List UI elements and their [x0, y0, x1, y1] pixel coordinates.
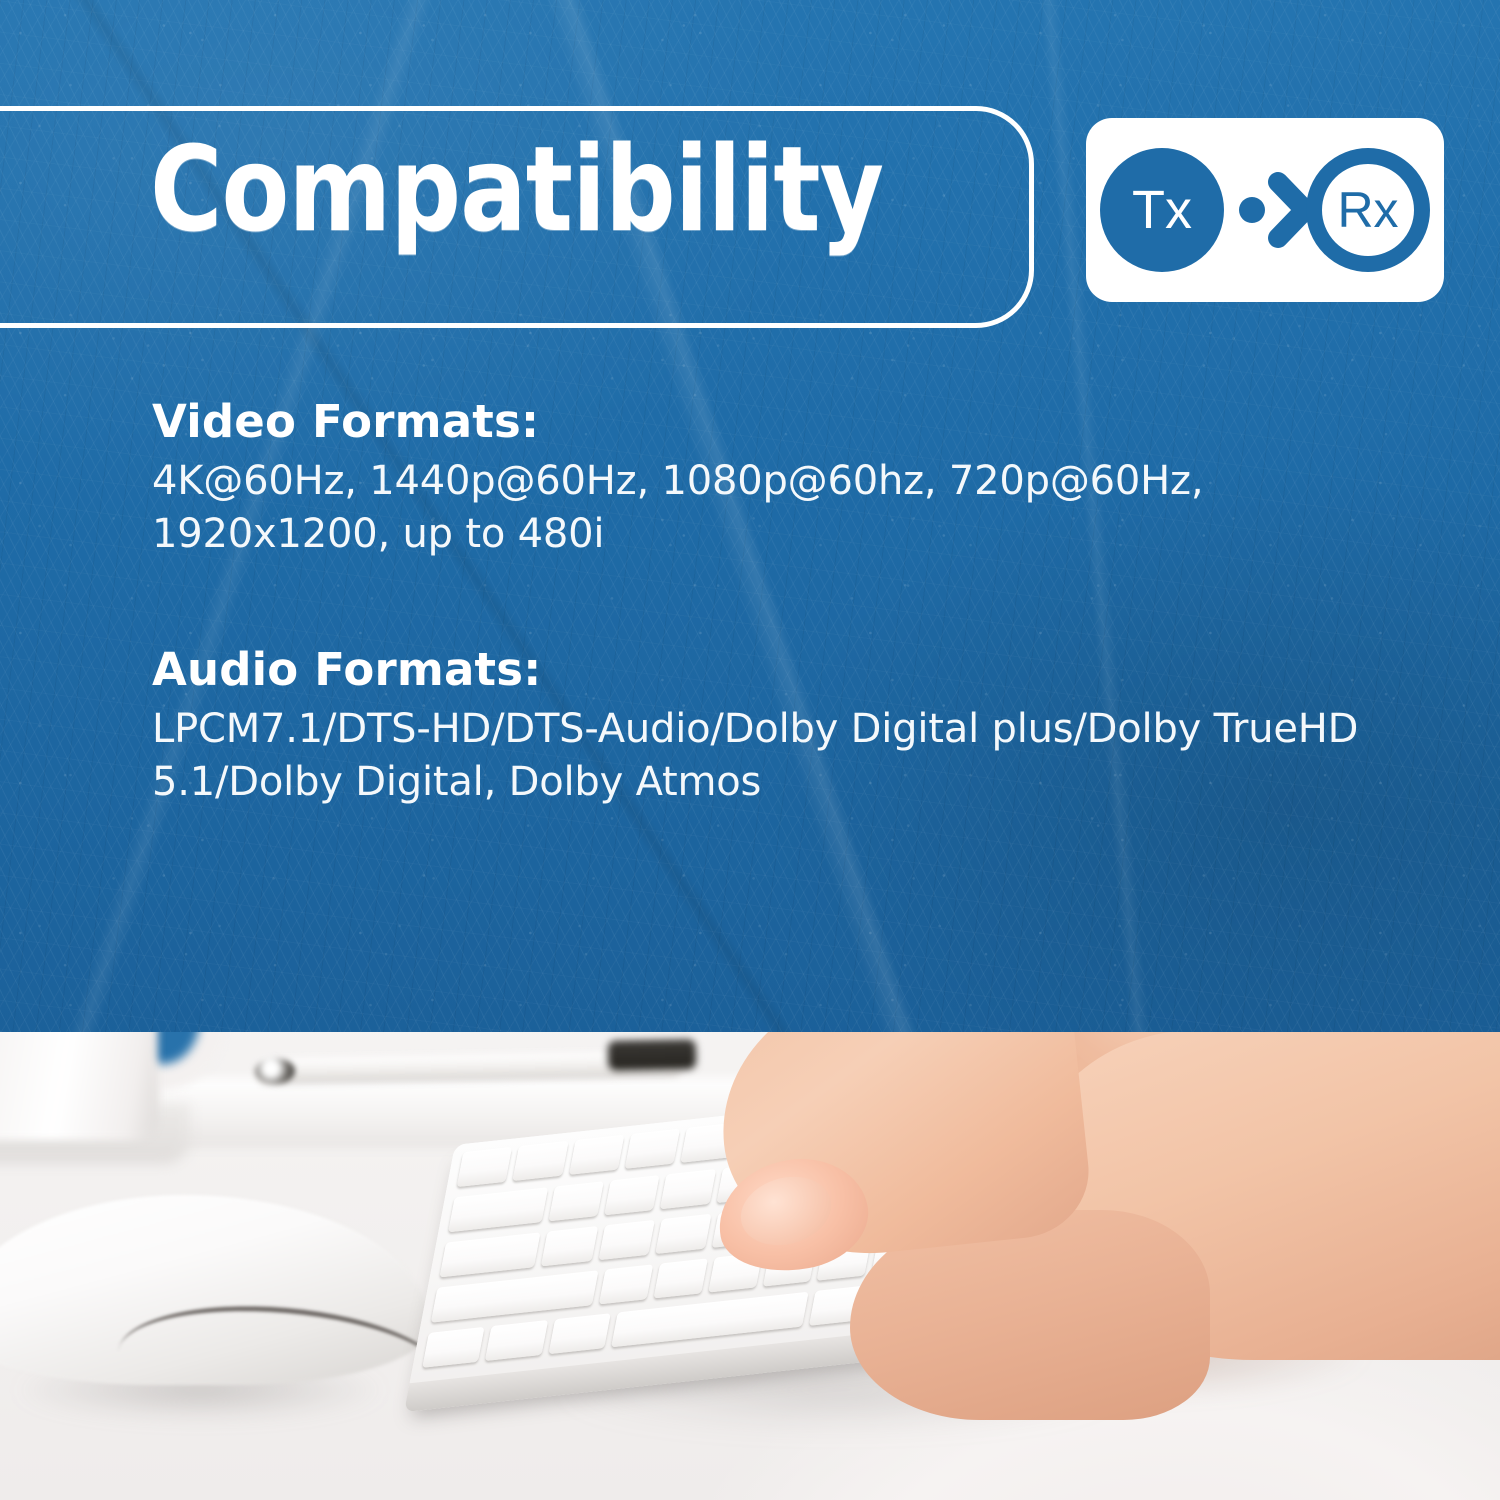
- tx-rx-badge: Tx Rx: [1086, 118, 1444, 302]
- video-formats-block: Video Formats: 4K@60Hz, 1440p@60Hz, 1080…: [152, 398, 1377, 561]
- video-formats-heading: Video Formats:: [152, 398, 1377, 446]
- audio-formats-value: LPCM7.1/DTS-HD/DTS-Audio/Dolby Digital p…: [152, 703, 1377, 809]
- video-formats-value: 4K@60Hz, 1440p@60Hz, 1080p@60hz, 720p@60…: [152, 455, 1377, 561]
- audio-formats-heading: Audio Formats:: [152, 646, 1377, 694]
- marketing-graphic: Compatibility Tx Rx Video Formats: 4K@60…: [0, 0, 1500, 1500]
- rx-circle-icon: Rx: [1314, 156, 1422, 264]
- pen-cap: [608, 1039, 697, 1071]
- tx-label: Tx: [1132, 180, 1192, 240]
- dot-chevron-right-icon: [1239, 182, 1305, 238]
- pen-tip: [255, 1058, 295, 1084]
- rx-label: Rx: [1337, 182, 1398, 238]
- page-title: Compatibility: [150, 130, 883, 248]
- tx-circle-icon: Tx: [1100, 148, 1224, 272]
- audio-formats-block: Audio Formats: LPCM7.1/DTS-HD/DTS-Audio/…: [152, 646, 1377, 809]
